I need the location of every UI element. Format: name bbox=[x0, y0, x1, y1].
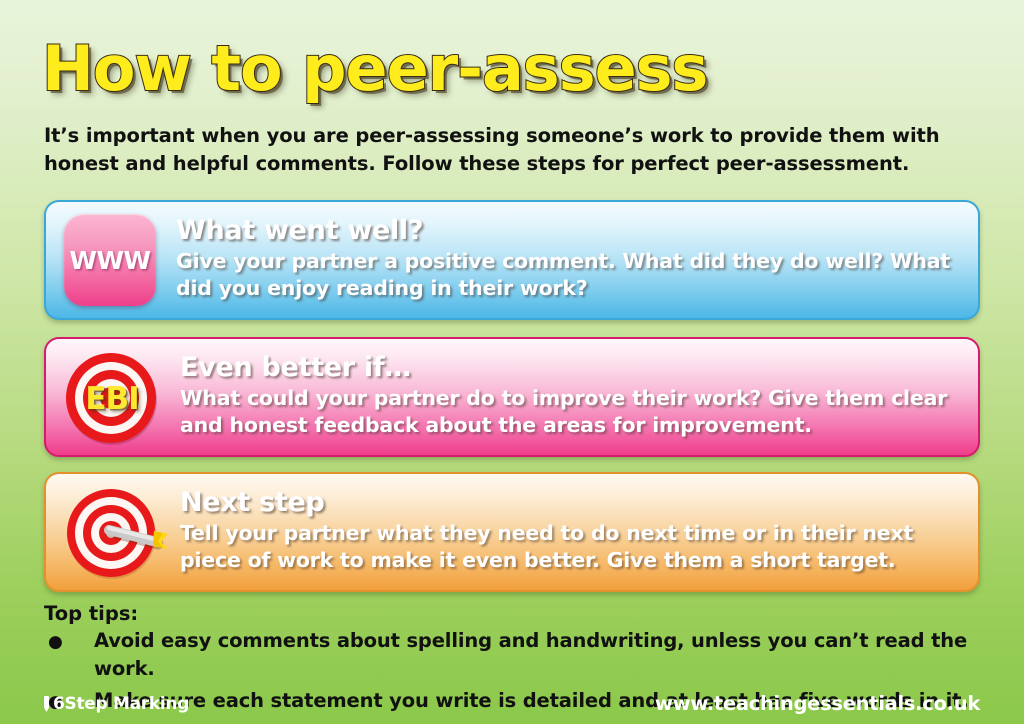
step-panel-www-text: What went well? Give your partner a posi… bbox=[156, 214, 964, 302]
footer-brand: 6Step Marking bbox=[44, 694, 189, 714]
step-body-www: Give your partner a positive comment. Wh… bbox=[176, 248, 964, 302]
tips-heading: Top tips: bbox=[44, 602, 138, 625]
page-title: How to peer-assess bbox=[42, 38, 707, 100]
step-panel-next-step-text: Next step Tell your partner what they ne… bbox=[160, 486, 964, 574]
next-step-target-dart-badge bbox=[64, 486, 160, 582]
tip-text: Avoid easy comments about spelling and h… bbox=[94, 627, 984, 682]
target-with-dart-icon bbox=[64, 486, 184, 582]
ebi-target-badge: EBI bbox=[64, 351, 160, 447]
step-title-www: What went well? bbox=[176, 216, 964, 245]
step-panel-ebi: EBI Even better if… What could your part… bbox=[44, 337, 980, 457]
footer-brand-label: 6Step Marking bbox=[53, 694, 189, 714]
step-panel-www: WWW What went well? Give your partner a … bbox=[44, 200, 980, 320]
step-panel-www-content: WWW What went well? Give your partner a … bbox=[46, 202, 978, 318]
step-body-ebi: What could your partner do to improve th… bbox=[180, 385, 964, 439]
step-body-next-step: Tell your partner what they need to do n… bbox=[180, 520, 964, 574]
step-panel-ebi-content: EBI Even better if… What could your part… bbox=[46, 339, 978, 455]
www-badge: WWW bbox=[64, 214, 156, 306]
intro-paragraph: It’s important when you are peer-assessi… bbox=[44, 122, 974, 177]
list-item: ● Avoid easy comments about spelling and… bbox=[44, 627, 984, 682]
step-title-next-step: Next step bbox=[180, 488, 964, 517]
step-panel-next-step-content: Next step Tell your partner what they ne… bbox=[46, 474, 978, 590]
www-badge-label: WWW bbox=[69, 246, 150, 275]
step-panel-next-step: Next step Tell your partner what they ne… bbox=[44, 472, 980, 592]
footer-website-url: www.teachingessentials.co.uk bbox=[655, 692, 980, 715]
pencil-icon bbox=[44, 696, 49, 712]
step-panel-ebi-text: Even better if… What could your partner … bbox=[160, 351, 964, 439]
ebi-badge-label: EBI bbox=[64, 351, 160, 447]
bullet-icon: ● bbox=[44, 630, 94, 654]
poster-canvas: How to peer-assess It’s important when y… bbox=[0, 0, 1024, 724]
step-title-ebi: Even better if… bbox=[180, 353, 964, 382]
